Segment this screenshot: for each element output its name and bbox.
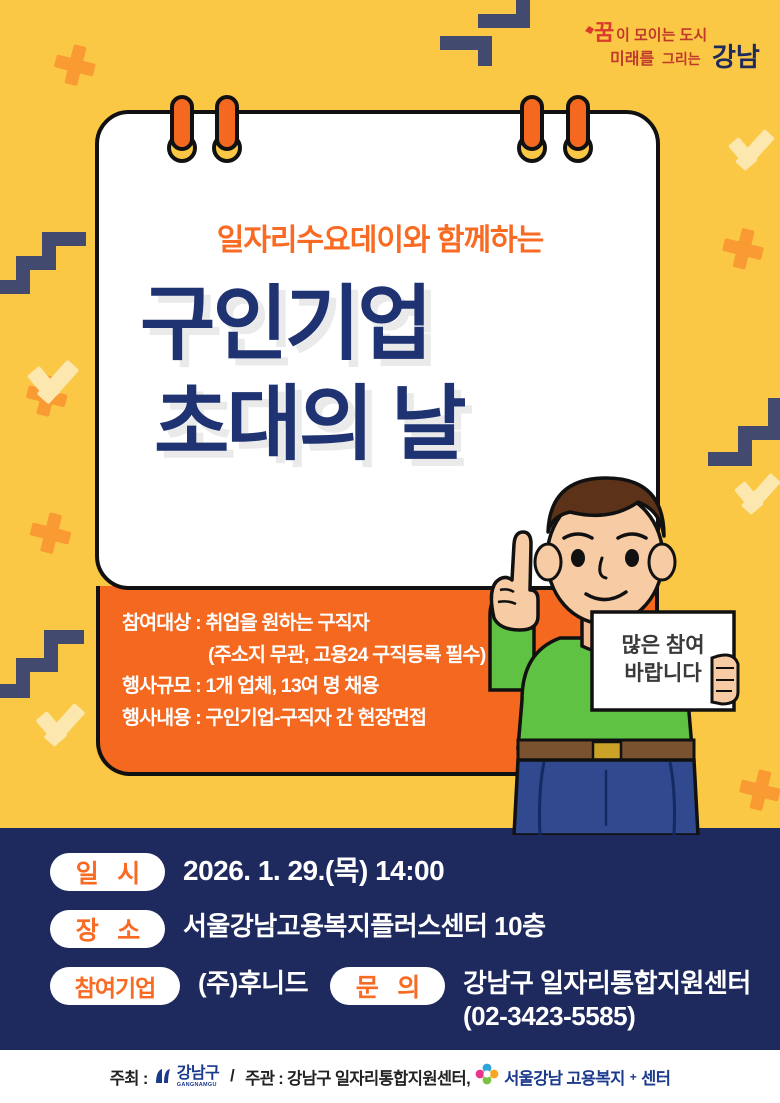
detail-row-company: 참여기업 (주)후니드 문 의 강남구 일자리통합지원센터 (02-3423-5… <box>50 967 751 1034</box>
check-decoration-right <box>736 118 780 176</box>
value-inquiry-line2: (02-3423-5585) <box>463 1000 751 1033</box>
svg-text:이 모이는 도시: 이 모이는 도시 <box>616 27 707 44</box>
svg-text:강남: 강남 <box>712 42 760 72</box>
value-company: (주)후니드 <box>198 967 308 1000</box>
value-venue: 서울강남고용복지플러스센터 10층 <box>183 910 546 943</box>
poster-title-line2: 초대의 날 <box>140 375 660 475</box>
detail-row-date: 일 시 2026. 1. 29.(목) 14:00 <box>50 853 444 891</box>
brand-slogan: 꿈 이 모이는 도시 미래를 그리는 강남 <box>580 14 770 72</box>
label-date-char2: 시 <box>117 854 139 890</box>
label-pill-inquiry: 문 의 <box>330 967 445 1005</box>
poster-title: 구인기업 초대의 날 <box>140 275 660 475</box>
details-section: 일 시 2026. 1. 29.(목) 14:00 장 소 서울강남고용복지플러… <box>0 828 780 1050</box>
label-pill-date: 일 시 <box>50 853 165 891</box>
value-date: 2026. 1. 29.(목) 14:00 <box>183 853 444 889</box>
binder-ring-icon <box>212 95 242 163</box>
label-company: 참여기업 <box>75 969 156 1003</box>
character-illustration: 많은 참여 바랍니다 <box>460 440 780 835</box>
label-inquiry-char1: 문 <box>356 968 378 1004</box>
footer-partner-plus: + <box>630 1070 636 1084</box>
value-inquiry-line1: 강남구 일자리통합지원센터 <box>463 967 751 1000</box>
check-decoration-left <box>36 345 96 405</box>
svg-text:미래를: 미래를 <box>610 50 654 68</box>
label-pill-company: 참여기업 <box>50 967 180 1005</box>
binder-rings <box>95 95 660 175</box>
detail-row-venue: 장 소 서울강남고용복지플러스센터 10층 <box>50 910 546 948</box>
star-icon <box>585 26 594 34</box>
gangnamgu-mark-icon <box>153 1066 175 1088</box>
label-pill-venue: 장 소 <box>50 910 165 948</box>
footer-bar: 주최 : 강남구 GANGNAMGU / 주관 : 강남구 일자리통합지원센터,… <box>0 1050 780 1103</box>
footer-organizer-label: 주관 : 강남구 일자리통합지원센터, <box>245 1065 470 1089</box>
footer-partner-suffix: 센터 <box>641 1065 670 1089</box>
footer-host-label: 주최 : <box>110 1065 148 1089</box>
footer-partner-text: 서울강남 고용복지 <box>504 1065 625 1089</box>
binder-ring-icon <box>563 95 593 163</box>
stair-decoration-top <box>440 0 550 68</box>
gangnamgu-logo-sub: GANGNAMGU <box>177 1082 217 1088</box>
gangnamgu-logo-icon: 강남구 GANGNAMGU <box>153 1066 219 1088</box>
svg-text:꿈: 꿈 <box>594 20 614 45</box>
welfare-center-flower-icon <box>475 1063 499 1090</box>
binder-ring-icon <box>167 95 197 163</box>
character-jeans <box>514 760 698 835</box>
binder-ring-icon <box>517 95 547 163</box>
footer-separator: / <box>230 1067 234 1086</box>
sign-line1: 많은 참여 <box>621 634 704 657</box>
poster-root: 꿈 이 모이는 도시 미래를 그리는 강남 참여대상 : 취업을 원하는 구직자… <box>0 0 780 1103</box>
value-inquiry: 강남구 일자리통합지원센터 (02-3423-5585) <box>463 967 751 1034</box>
pointing-hand-icon <box>491 532 538 630</box>
sign-line2: 바랍니다 <box>624 662 702 685</box>
label-venue-char2: 소 <box>117 911 139 947</box>
gangnamgu-logo-text: 강남구 <box>177 1066 219 1082</box>
label-venue-char1: 장 <box>76 911 98 947</box>
poster-title-line1: 구인기업 <box>140 275 660 375</box>
check-decoration-bottom-left <box>44 690 102 750</box>
sign-holding-hand-icon <box>712 655 738 704</box>
label-inquiry-char2: 의 <box>397 968 419 1004</box>
label-date-char1: 일 <box>76 854 98 890</box>
svg-text:그리는: 그리는 <box>662 51 701 67</box>
poster-subtitle: 일자리수요데이와 함께하는 <box>0 215 760 259</box>
